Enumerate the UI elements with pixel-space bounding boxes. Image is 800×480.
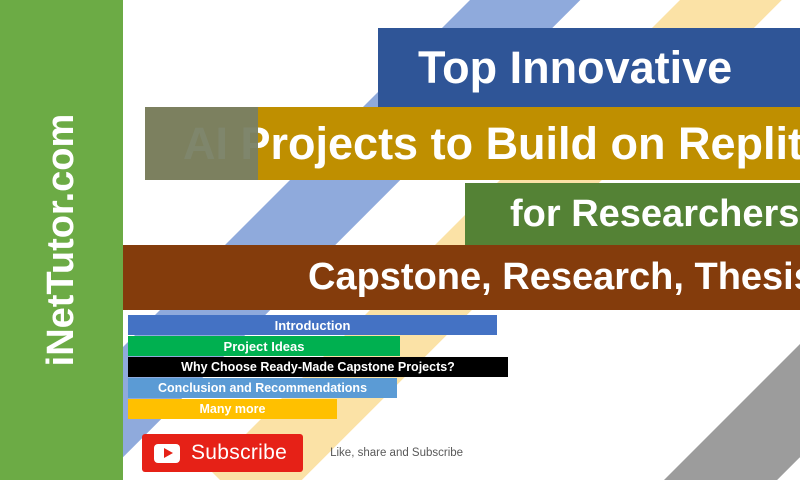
slide-canvas: iNetTutor.com Top Innovative AI Projects…: [0, 0, 800, 480]
subscribe-row: Subscribe Like, share and Subscribe: [142, 434, 463, 472]
subscribe-button-label: Subscribe: [191, 441, 287, 465]
agenda-list: Introduction Project Ideas Why Choose Re…: [128, 315, 508, 420]
title-bar-line-1: Top Innovative: [378, 28, 800, 107]
agenda-item-introduction: Introduction: [128, 315, 497, 335]
title-text-line-3: for Researchers: [510, 193, 799, 236]
title-bar-line-4: Capstone, Research, Thesis: [123, 245, 800, 310]
agenda-item-label: Conclusion and Recommendations: [158, 381, 367, 395]
agenda-item-label: Introduction: [275, 318, 351, 333]
agenda-item-label: Project Ideas: [224, 339, 305, 354]
title-text-line-2: AI Projects to Build on Replit: [183, 118, 800, 170]
brand-sidebar: iNetTutor.com: [0, 0, 123, 480]
agenda-item-label: Many more: [200, 402, 266, 416]
title-bar-line-3: for Researchers: [465, 183, 800, 245]
brand-sidebar-label: iNetTutor.com: [0, 0, 123, 480]
agenda-item-project-ideas: Project Ideas: [128, 336, 400, 356]
agenda-item-many-more: Many more: [128, 399, 337, 419]
subscribe-button[interactable]: Subscribe: [142, 434, 303, 472]
title-text-line-1: Top Innovative: [418, 42, 732, 94]
agenda-item-label: Why Choose Ready-Made Capstone Projects?: [181, 360, 455, 374]
stripe-overlay-shade: [145, 107, 258, 180]
youtube-play-icon: [154, 444, 180, 463]
agenda-item-why-ready-made: Why Choose Ready-Made Capstone Projects?: [128, 357, 508, 377]
agenda-item-conclusion: Conclusion and Recommendations: [128, 378, 397, 398]
title-text-line-4: Capstone, Research, Thesis: [308, 256, 800, 299]
subscribe-note: Like, share and Subscribe: [330, 447, 463, 459]
